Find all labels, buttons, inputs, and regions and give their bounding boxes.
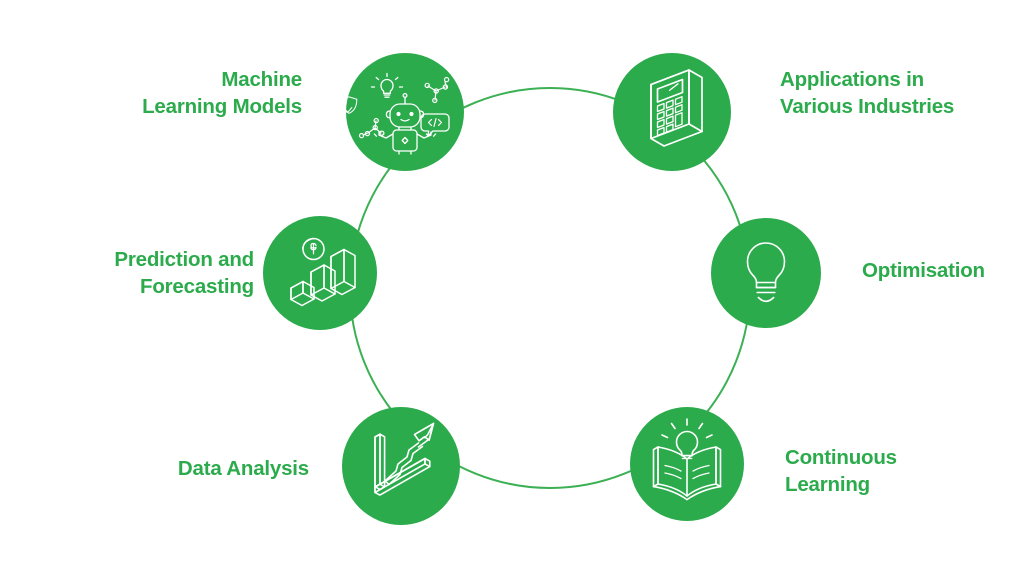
node-applications-in-various-industries[interactable]	[613, 53, 731, 171]
label-data-analysis: Data Analysis	[59, 455, 309, 482]
node-circle-data-analysis[interactable]	[342, 407, 460, 525]
node-continuous-learning[interactable]	[630, 407, 744, 521]
node-prediction-and-forecasting[interactable]	[263, 216, 377, 330]
node-optimisation[interactable]	[711, 218, 821, 328]
node-circle-applications-in-various-industries[interactable]	[613, 53, 731, 171]
label-prediction-and-forecasting: Prediction and Forecasting	[4, 246, 254, 301]
predictive-ai-diagram: Machine Learning Models Applications in …	[0, 0, 1024, 576]
node-machine-learning-models[interactable]	[341, 53, 464, 171]
node-circle-machine-learning-models[interactable]	[346, 53, 464, 171]
label-continuous-learning: Continuous Learning	[785, 444, 1024, 499]
node-circle-prediction-and-forecasting[interactable]	[263, 216, 377, 330]
node-data-analysis[interactable]	[342, 407, 460, 525]
label-machine-learning-models: Machine Learning Models	[42, 66, 302, 121]
label-optimisation: Optimisation	[862, 257, 1024, 284]
label-applications-in-various-industries: Applications in Various Industries	[780, 66, 1024, 121]
node-circle-optimisation[interactable]	[711, 218, 821, 328]
center-title: Predictive AI	[412, 233, 688, 348]
